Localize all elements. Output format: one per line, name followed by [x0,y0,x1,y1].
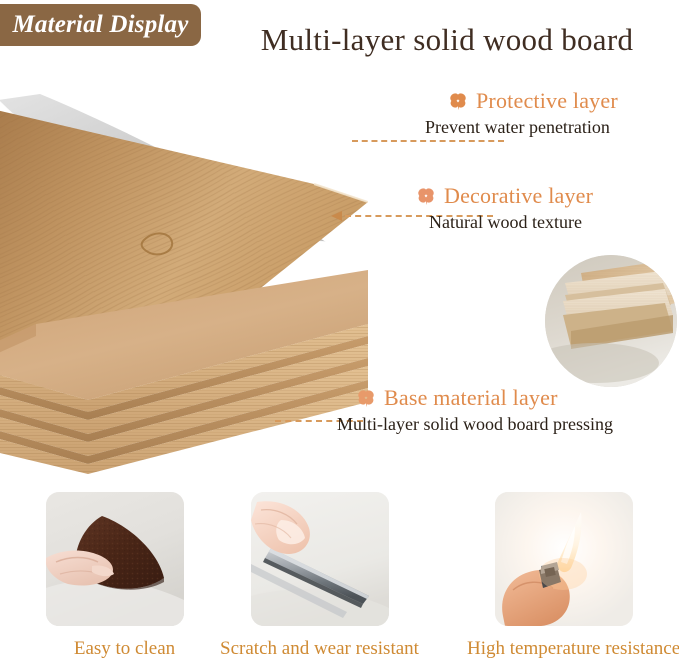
callout-protective-layer: Protective layer Prevent water penetrati… [447,88,618,138]
callout-protective-title: Protective layer [476,88,618,114]
plywood-stack-inset-photo [545,255,677,387]
feature-photo-scratch-resistant [251,492,389,626]
feature-photo-easy-to-clean [46,492,184,626]
feature-photo-high-temperature [495,492,633,626]
hand-wiping-with-brown-cloth-image [46,492,184,626]
page-title: Multi-layer solid wood board [222,22,672,58]
callout-base-subtitle: Multi-layer solid wood board pressing [337,414,613,435]
feature-caption-high-temperature: High temperature resistance [467,638,664,660]
callout-protective-head: Protective layer [447,88,618,114]
feature-scratch-resistant: Scratch and wear resistant [245,492,420,660]
feature-caption-easy-to-clean: Easy to clean [37,638,212,660]
leader-arrow-decorative [331,211,342,221]
callout-base-material-layer: Base material layer Multi-layer solid wo… [355,385,613,435]
callout-decorative-head: Decorative layer [415,183,593,209]
leader-line-protective [352,140,504,142]
clover-icon [415,185,437,207]
feature-high-temperature: High temperature resistance [489,492,664,660]
badge-label: Material Display [12,11,188,39]
hand-scratching-with-blade-image [251,492,389,626]
clover-icon [447,90,469,112]
callout-decorative-title: Decorative layer [444,183,593,209]
callout-decorative-layer: Decorative layer Natural wood texture [415,183,593,233]
callout-base-head: Base material layer [355,385,613,411]
callout-decorative-subtitle: Natural wood texture [429,212,593,233]
feature-easy-to-clean: Easy to clean [37,492,212,660]
clover-icon [355,387,377,409]
callout-base-title: Base material layer [384,385,558,411]
feature-caption-scratch-resistant: Scratch and wear resistant [219,638,420,660]
callout-protective-subtitle: Prevent water penetration [425,117,618,138]
infographic-page: Material Display Multi-layer solid wood … [0,0,679,669]
plywood-stack-image [545,255,677,387]
feature-panels: Easy to clean [0,492,679,669]
hand-holding-lighter-flame-image [495,492,633,626]
material-display-badge: Material Display [0,4,201,46]
exploded-board-illustration [0,92,368,474]
